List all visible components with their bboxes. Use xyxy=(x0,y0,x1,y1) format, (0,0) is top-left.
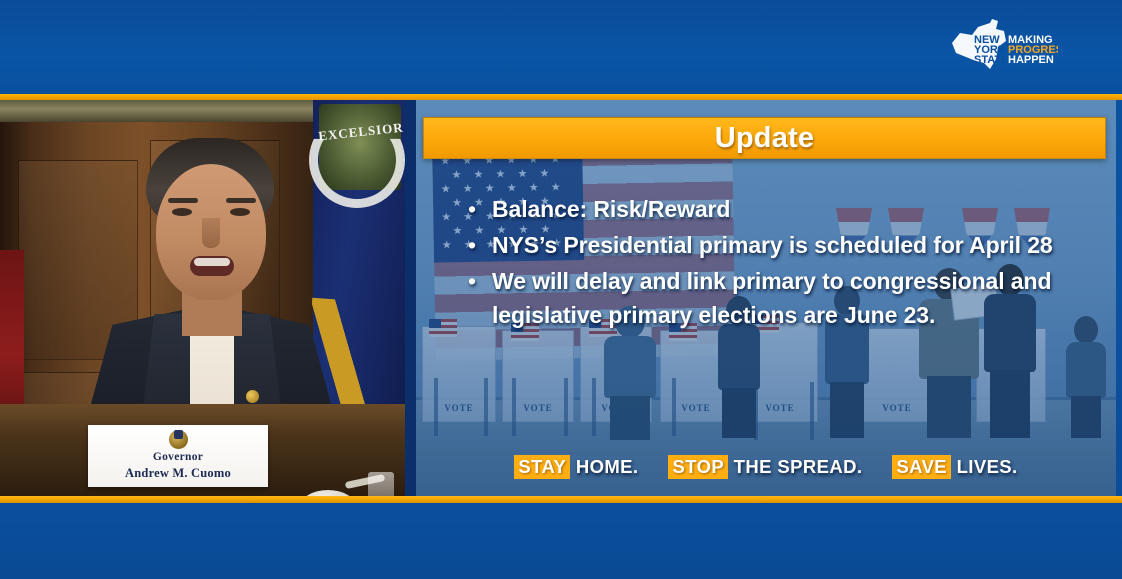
nose xyxy=(202,218,220,248)
logo-state-line3: STATE xyxy=(974,54,1008,66)
bullet-item: • NYS’s Presidential primary is schedule… xyxy=(468,228,1080,262)
nameplate-title: Governor xyxy=(88,450,268,465)
bullet-text: Balance: Risk/Reward xyxy=(492,192,730,226)
presentation-slide-panel[interactable]: ★ ★ ★ ★ ★ ★ ★ ★ ★ ★ ★ ★ ★ ★ ★ xyxy=(416,100,1116,496)
slogan-highlight-stay: STAY xyxy=(514,455,570,479)
bullet-item: • Balance: Risk/Reward xyxy=(468,192,1080,226)
eyebrow-right xyxy=(226,198,256,203)
teeth xyxy=(194,258,230,266)
slide-title: Update xyxy=(715,122,815,155)
bullet-text: NYS’s Presidential primary is scheduled … xyxy=(492,228,1053,262)
bullet-text: We will delay and link primary to congre… xyxy=(492,264,1080,332)
panel-divider xyxy=(405,100,416,496)
governor-video-panel[interactable]: EXCELSIOR xyxy=(0,100,405,496)
slogan-save-lives: SAVE LIVES. xyxy=(892,456,1017,478)
nameplate: Governor Andrew M. Cuomo xyxy=(88,425,268,487)
bullet-item: • We will delay and link primary to cong… xyxy=(468,264,1080,332)
ny-state-logo: NEW YORK STATE MAKING PROGRESS HAPPEN xyxy=(946,17,1058,75)
bullet-dot: • xyxy=(468,228,492,262)
slogan-rest-home: HOME. xyxy=(570,456,638,477)
broadcast-backdrop: NEW YORK STATE MAKING PROGRESS HAPPEN EX… xyxy=(0,0,1122,579)
state-seal-icon xyxy=(169,430,188,449)
nameplate-name: Andrew M. Cuomo xyxy=(88,465,268,481)
logo-tag-line3: HAPPEN xyxy=(1008,54,1054,66)
water-glass xyxy=(368,472,394,496)
bullet-dot: • xyxy=(468,264,492,298)
bottom-blue-band xyxy=(0,503,1122,579)
lapel-pin xyxy=(246,390,259,403)
slogan-rest-spread: THE SPREAD. xyxy=(728,456,862,477)
slogan-stop-spread: STOP THE SPREAD. xyxy=(668,456,862,478)
bullet-dot: • xyxy=(468,192,492,226)
eye-left xyxy=(172,208,192,216)
slogan-stay-home: STAY HOME. xyxy=(514,456,638,478)
slide-bullet-list: • Balance: Risk/Reward • NYS’s President… xyxy=(468,192,1080,334)
slide-header-bar: Update xyxy=(423,117,1106,159)
slogan-highlight-save: SAVE xyxy=(892,455,951,479)
eyebrow-left xyxy=(168,198,198,203)
slogan-highlight-stop: STOP xyxy=(668,455,728,479)
public-health-slogan: STAY HOME. STOP THE SPREAD. SAVE LIVES. xyxy=(416,456,1116,478)
content-row: EXCELSIOR xyxy=(0,100,1122,496)
bottom-gold-divider xyxy=(0,496,1122,503)
slogan-rest-lives: LIVES. xyxy=(951,456,1018,477)
eye-right xyxy=(230,208,250,216)
